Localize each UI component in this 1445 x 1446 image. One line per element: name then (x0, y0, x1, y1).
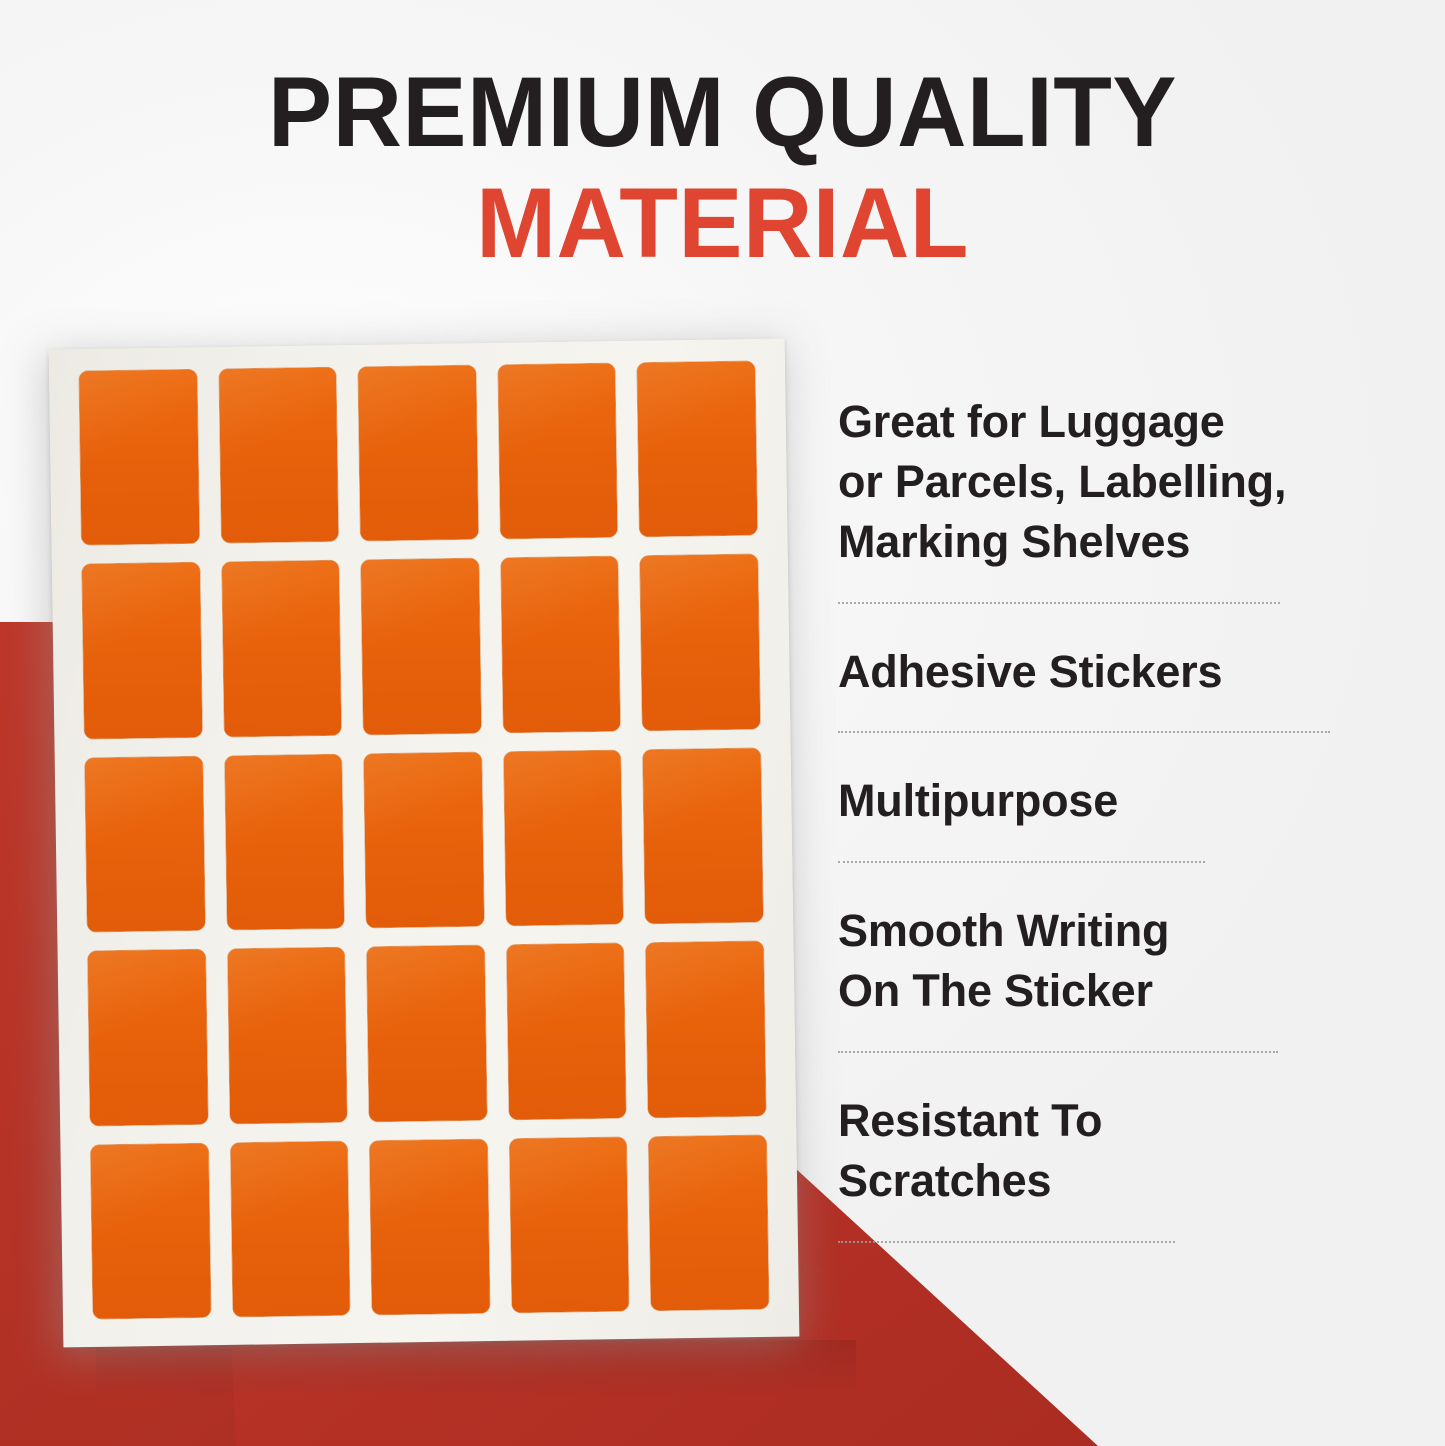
feature-divider (838, 731, 1330, 733)
feature-item: Smooth Writing On The Sticker (838, 901, 1398, 1021)
sticker-grid (79, 361, 769, 1319)
sticker-label (370, 1139, 490, 1315)
feature-text: Adhesive Stickers (838, 642, 1398, 702)
heading-line-accent: MATERIAL (22, 173, 1424, 272)
sticker-label (85, 756, 205, 932)
sticker-label (643, 748, 763, 924)
sticker-label (509, 1137, 629, 1313)
sticker-label (219, 367, 339, 543)
sticker-label (82, 563, 202, 739)
sticker-label (224, 754, 344, 930)
sticker-label (498, 363, 618, 539)
sticker-label (221, 561, 341, 737)
feature-list: Great for Luggage or Parcels, Labelling,… (838, 392, 1398, 1243)
sticker-label (637, 361, 757, 537)
sticker-label (506, 943, 626, 1119)
feature-item: Resistant To Scratches (838, 1091, 1398, 1211)
sticker-label (90, 1143, 210, 1319)
feature-item: Multipurpose (838, 771, 1398, 831)
feature-divider (838, 861, 1205, 863)
heading-line-primary: PREMIUM QUALITY (22, 62, 1424, 161)
feature-text: Multipurpose (838, 771, 1398, 831)
poster-heading: PREMIUM QUALITY MATERIAL (0, 62, 1445, 272)
feature-divider (838, 602, 1280, 604)
sticker-label (230, 1141, 350, 1317)
sticker-label (361, 559, 481, 735)
feature-item: Great for Luggage or Parcels, Labelling,… (838, 392, 1398, 572)
sticker-label (367, 945, 487, 1121)
sticker-label (364, 752, 484, 928)
product-photo-sticker-sheet (56, 344, 798, 1350)
sticker-label (640, 554, 760, 730)
feature-text: Great for Luggage or Parcels, Labelling,… (838, 392, 1398, 572)
sticker-label (227, 947, 347, 1123)
sticker-label (88, 949, 208, 1125)
sticker-label (503, 750, 623, 926)
feature-divider (838, 1051, 1278, 1053)
feature-divider (838, 1241, 1175, 1243)
sticker-label (358, 365, 478, 541)
backing-sheet (49, 339, 800, 1348)
feature-item: Adhesive Stickers (838, 642, 1398, 702)
feature-text: Smooth Writing On The Sticker (838, 901, 1398, 1021)
product-infographic-poster: PREMIUM QUALITY MATERIAL (0, 0, 1445, 1446)
sticker-label (79, 369, 199, 545)
sticker-label (646, 941, 766, 1117)
feature-text: Resistant To Scratches (838, 1091, 1398, 1211)
sticker-label (649, 1135, 769, 1311)
sticker-label (501, 556, 621, 732)
